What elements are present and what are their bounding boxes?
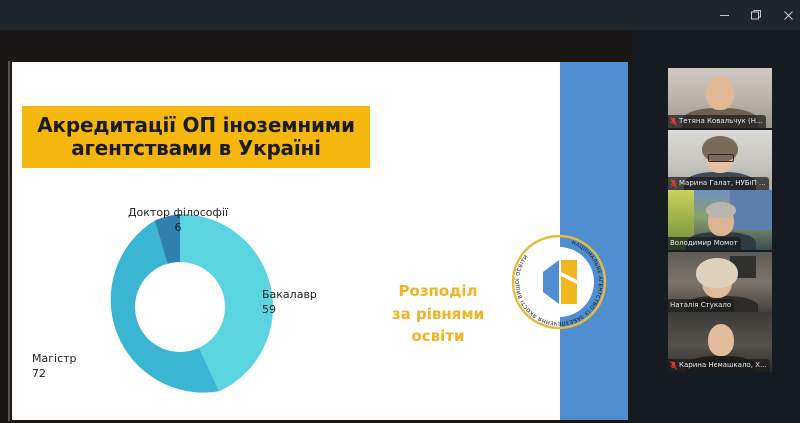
minimize-icon bbox=[719, 10, 730, 21]
close-button[interactable] bbox=[777, 4, 799, 26]
mic-muted-icon bbox=[670, 179, 677, 188]
mic-muted-icon bbox=[670, 361, 677, 370]
meeting-window: Акредитації ОП іноземними агентствами в … bbox=[0, 0, 800, 423]
participant-name: Марина Галат, НУБіП ... bbox=[679, 180, 766, 187]
chart-label-phd-value: 6 bbox=[108, 221, 248, 236]
chart-label-bachelor-name: Бакалавр bbox=[262, 288, 317, 301]
window-titlebar bbox=[0, 0, 800, 30]
participant-tile[interactable]: Марина Галат, НУБіП ... bbox=[668, 130, 772, 190]
agency-seal-logo: НАЦІОНАЛЬНЕ АГЕНТСТВО ІЗ ЗАБЕЗПЕЧЕННЯ ЯК… bbox=[507, 230, 611, 334]
participant-tile[interactable]: Тетяна Ковальчук (Н... bbox=[668, 68, 772, 128]
participant-strip[interactable]: Тетяна Ковальчук (Н... Марина Галат, Н bbox=[632, 30, 800, 423]
shared-screen-area[interactable]: Акредитації ОП іноземними агентствами в … bbox=[0, 30, 632, 423]
participant-name: Володимир Момот bbox=[670, 240, 738, 247]
chart-label-master: Магістр 72 bbox=[32, 352, 112, 382]
slide-subtitle-line1: Розподіл bbox=[368, 280, 508, 303]
slide-edge-divider bbox=[8, 61, 10, 421]
restore-icon bbox=[750, 9, 762, 21]
participant-name: Наталія Стукало bbox=[670, 302, 731, 309]
slide-title-banner: Акредитації ОП іноземними агентствами в … bbox=[22, 106, 370, 168]
participant-name: Тетяна Ковальчук (Н... bbox=[679, 118, 763, 125]
maximize-button[interactable] bbox=[745, 4, 767, 26]
slide-subtitle: Розподіл за рівнями освіти bbox=[368, 280, 508, 348]
donut-hole bbox=[135, 262, 225, 352]
chart-label-master-name: Магістр bbox=[32, 352, 77, 365]
participant-tile[interactable]: Карина Нємашкало, Х... bbox=[668, 312, 772, 372]
slide-title-line1: Акредитації ОП іноземними bbox=[37, 114, 355, 137]
participant-tile[interactable]: Володимир Момот bbox=[668, 190, 772, 250]
chart-label-bachelor: Бакалавр 59 bbox=[262, 288, 358, 318]
chart-label-bachelor-value: 59 bbox=[262, 303, 358, 318]
participant-name-bar: Марина Галат, НУБіП ... bbox=[668, 177, 769, 190]
participant-name-bar: Володимир Момот bbox=[668, 237, 741, 250]
chart-label-phd: Доктор філософії 6 bbox=[108, 206, 248, 236]
participant-tile-active-speaker[interactable]: Наталія Стукало bbox=[668, 252, 772, 312]
minimize-button[interactable] bbox=[713, 4, 735, 26]
slide-title-line2: агентствами в Україні bbox=[71, 137, 321, 160]
participant-name-bar: Наталія Стукало bbox=[668, 299, 734, 312]
participant-name-bar: Карина Нємашкало, Х... bbox=[668, 359, 770, 372]
chart-label-phd-name: Доктор філософії bbox=[128, 206, 228, 219]
slide-subtitle-line2: за рівнями освіти bbox=[368, 303, 508, 348]
close-icon bbox=[783, 10, 794, 21]
donut-chart bbox=[85, 212, 275, 402]
participant-name: Карина Нємашкало, Х... bbox=[679, 362, 767, 369]
mic-muted-icon bbox=[670, 117, 677, 126]
presentation-slide: Акредитації ОП іноземними агентствами в … bbox=[12, 62, 628, 420]
chart-label-master-value: 72 bbox=[32, 367, 112, 382]
participant-name-bar: Тетяна Ковальчук (Н... bbox=[668, 115, 766, 128]
